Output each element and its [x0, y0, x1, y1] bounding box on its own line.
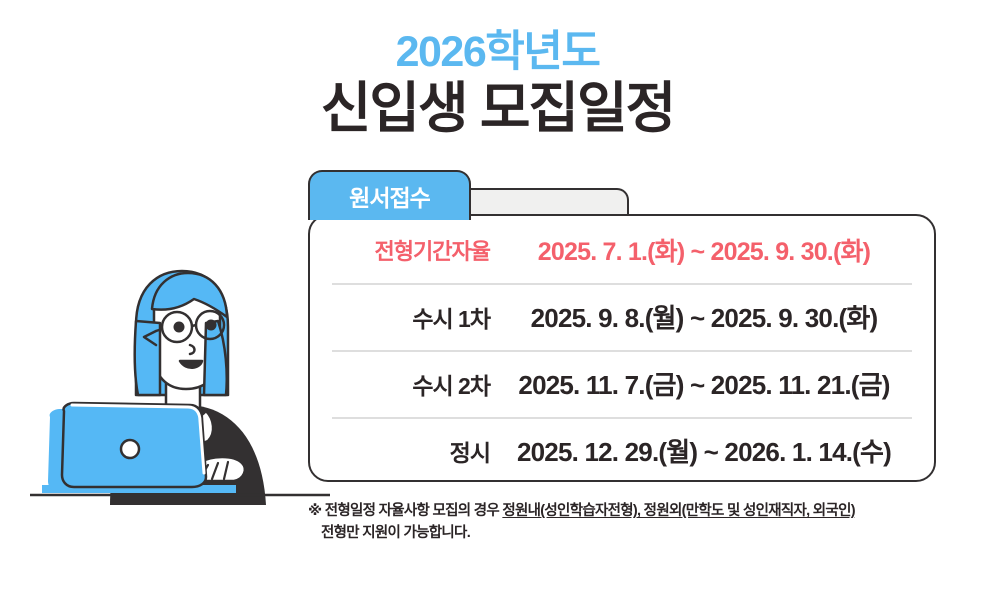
- title-main: 신입생 모집일정: [0, 75, 995, 140]
- table-row: 전형기간자율 2025. 7. 1.(화) ~ 2025. 9. 30.(화): [332, 216, 912, 283]
- eye-right-shape: [206, 320, 217, 331]
- laptop-logo-icon: [121, 440, 139, 458]
- footnote-emphasis: 정원내(성인학습자전형), 정원외(만학도 및 성인재직자, 외국인): [502, 503, 854, 519]
- eye-left-shape: [174, 322, 185, 333]
- tab-application-reception[interactable]: 원서접수: [308, 170, 471, 220]
- table-row: 수시 2차 2025. 11. 7.(금) ~ 2025. 11. 21.(금): [332, 350, 912, 417]
- row-value: 2025. 11. 7.(금) ~ 2025. 11. 21.(금): [502, 365, 912, 402]
- footnote-suffix: 전형만 지원이 가능합니다.: [308, 522, 988, 544]
- schedule-card: 전형기간자율 2025. 7. 1.(화) ~ 2025. 9. 30.(화) …: [308, 214, 936, 482]
- footnote: ※ 전형일정 자율사항 모집의 경우 정원내(성인학습자전형), 정원외(만학도…: [308, 500, 988, 545]
- row-label: 정시: [332, 434, 502, 468]
- row-value: 2025. 12. 29.(월) ~ 2026. 1. 14.(수): [502, 432, 912, 469]
- table-row: 정시 2025. 12. 29.(월) ~ 2026. 1. 14.(수): [332, 417, 912, 484]
- row-label: 수시 1차: [332, 300, 502, 334]
- title-year: 2026학년도: [0, 30, 995, 75]
- row-value: 2025. 9. 8.(월) ~ 2025. 9. 30.(화): [502, 298, 912, 335]
- person-at-laptop-illustration: [30, 265, 330, 505]
- row-value: 2025. 7. 1.(화) ~ 2025. 9. 30.(화): [502, 232, 912, 268]
- page-title: 2026학년도 신입생 모집일정: [0, 30, 995, 140]
- table-row: 수시 1차 2025. 9. 8.(월) ~ 2025. 9. 30.(화): [332, 283, 912, 350]
- tab-active-label: 원서접수: [349, 179, 430, 213]
- tab-bar: 원서접수: [308, 170, 948, 220]
- row-label: 수시 2차: [332, 367, 502, 401]
- row-label: 전형기간자율: [332, 234, 502, 266]
- footnote-prefix: ※ 전형일정 자율사항 모집의 경우: [308, 503, 502, 519]
